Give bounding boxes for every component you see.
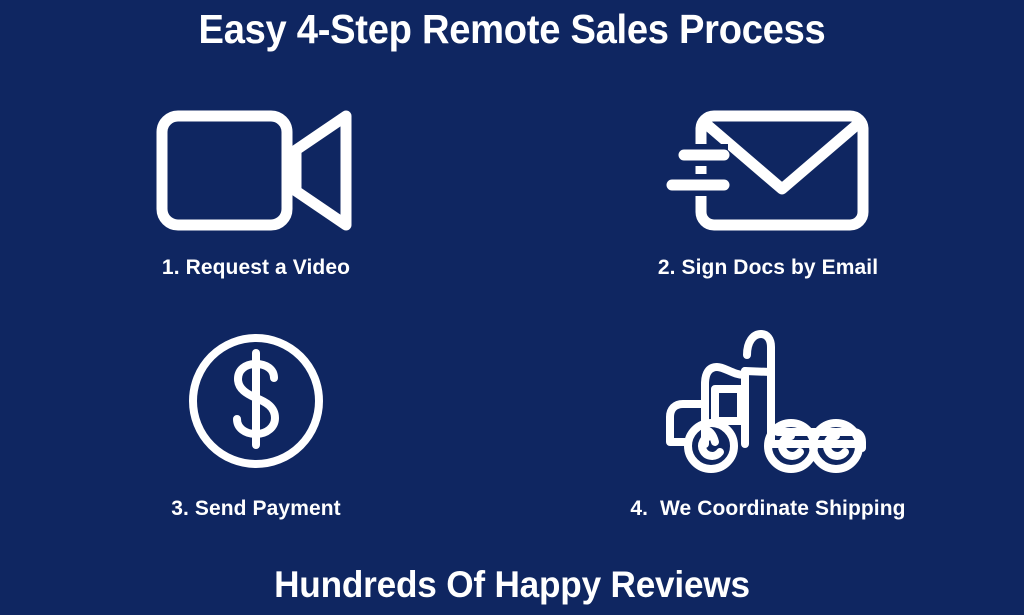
dollar-coin-icon (186, 331, 326, 471)
step-label: 2. Sign Docs by Email (658, 256, 878, 280)
envelope-icon (666, 100, 871, 240)
step-item-coordinate-shipping[interactable]: 4. We Coordinate Shipping (512, 313, 1024, 548)
step-item-send-payment[interactable]: 3. Send Payment (0, 313, 512, 548)
infographic-panel: Easy 4-Step Remote Sales Process 1. Requ… (0, 0, 1024, 615)
video-camera-icon (156, 100, 356, 240)
page-title: Easy 4-Step Remote Sales Process (36, 0, 988, 58)
step-item-request-video[interactable]: 1. Request a Video (0, 78, 512, 313)
step-item-sign-docs[interactable]: 2. Sign Docs by Email (512, 78, 1024, 313)
step-label: 4. We Coordinate Shipping (630, 497, 905, 521)
semi-truck-icon (663, 331, 873, 471)
steps-grid: 1. Request a Video 2. Sign Docs by Email (0, 78, 1024, 548)
step-label: 1. Request a Video (162, 256, 350, 280)
step-label: 3. Send Payment (171, 497, 341, 521)
footer-title: Hundreds Of Happy Reviews (26, 556, 999, 614)
